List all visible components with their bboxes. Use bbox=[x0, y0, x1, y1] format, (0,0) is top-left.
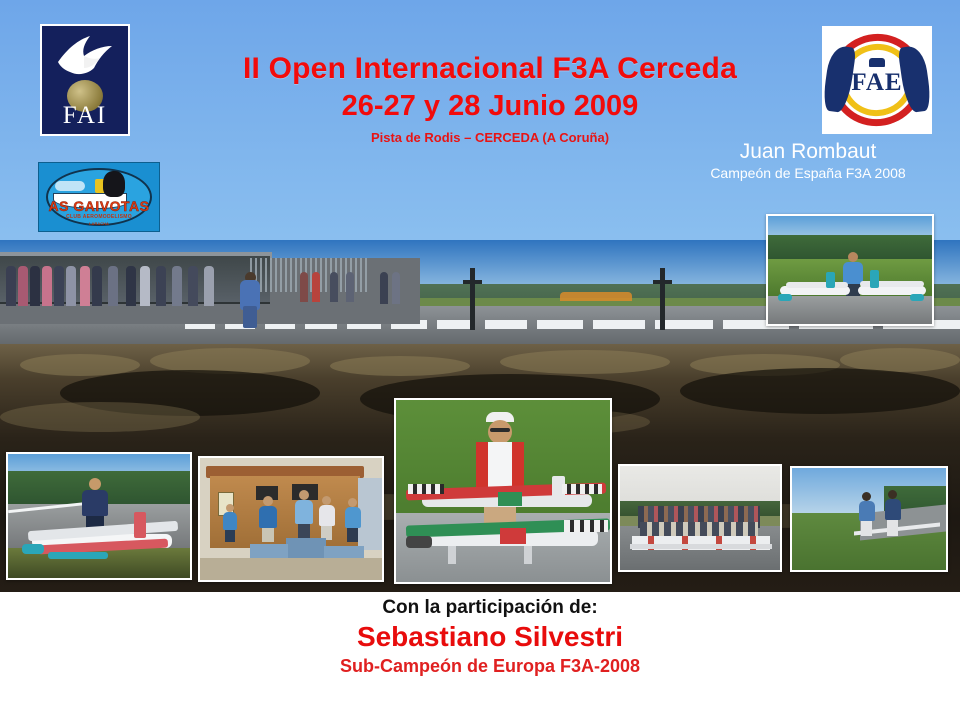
fai-logo-text: FAI bbox=[42, 103, 128, 129]
champion-subtitle: Campeón de España F3A 2008 bbox=[678, 164, 938, 182]
photo-plane-left bbox=[776, 272, 856, 306]
photo-podium-ceremony bbox=[198, 456, 384, 582]
photo-two-pilots bbox=[790, 466, 948, 572]
photo-post-right bbox=[660, 268, 665, 330]
photo-plane bbox=[22, 508, 182, 566]
photo-group-with-planes bbox=[618, 464, 782, 572]
poster-dates: 26-27 y 28 Junio 2009 bbox=[180, 88, 800, 124]
gaivotas-logo-text: AS GAIVOTAS bbox=[39, 199, 159, 214]
poster-title: II Open Internacional F3A Cerceda bbox=[180, 52, 800, 86]
gaivotas-logo-sub: CLUB AEROMODELISMO bbox=[39, 214, 159, 220]
photo-boy-with-plane bbox=[6, 452, 192, 580]
photo-post-left bbox=[470, 268, 475, 330]
toucan-icon bbox=[103, 171, 125, 197]
photo-plane-right bbox=[852, 270, 932, 306]
photo-walking-person bbox=[238, 272, 262, 328]
as-gaivotas-logo: AS GAIVOTAS CLUB AEROMODELISMO LARACHA bbox=[38, 162, 160, 232]
participation-subtitle: Sub-Campeón de Europa F3A-2008 bbox=[280, 654, 700, 678]
champion-block: Juan Rombaut Campeón de España F3A 2008 bbox=[678, 140, 938, 182]
photo-plane-lower bbox=[404, 508, 612, 568]
fae-logo: FAE bbox=[822, 26, 932, 134]
champion-name: Juan Rombaut bbox=[678, 140, 938, 164]
participation-name: Sebastiano Silvestri bbox=[280, 620, 700, 654]
sponsor-bar: Con la participación de: Sebastiano Silv… bbox=[0, 592, 960, 720]
crown-icon bbox=[869, 58, 885, 67]
fae-logo-text: FAE bbox=[822, 70, 932, 96]
fai-logo: FAI bbox=[40, 24, 130, 136]
gaivotas-logo-sub2: LARACHA bbox=[39, 221, 159, 226]
poster-canvas: FAI FAE AS GAIVOTAS CLUB AEROMODELISMO L… bbox=[0, 0, 960, 720]
poster-title-block: II Open Internacional F3A Cerceda 26-27 … bbox=[180, 52, 800, 146]
photo-pilot-two-planes bbox=[766, 214, 934, 326]
participation-intro: Con la participación de: bbox=[280, 596, 700, 620]
participation-block: Con la participación de: Sebastiano Silv… bbox=[280, 596, 700, 678]
photo-pilot-italian-planes bbox=[394, 398, 612, 584]
